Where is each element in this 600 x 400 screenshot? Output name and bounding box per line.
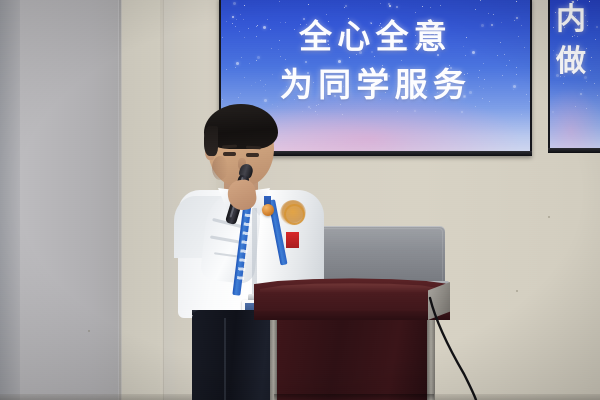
wall-speck bbox=[548, 216, 550, 218]
star bbox=[553, 50, 554, 51]
wooden-podium bbox=[254, 278, 450, 400]
star bbox=[389, 5, 391, 7]
podium-lip bbox=[254, 311, 450, 320]
star bbox=[422, 6, 423, 7]
secondary-screen-line-1: 内 bbox=[556, 0, 588, 38]
podium-front-panel bbox=[276, 320, 428, 400]
star bbox=[233, 2, 236, 5]
star bbox=[435, 111, 436, 112]
photo-scene: 全心全意 为同学服务 内 做 bbox=[0, 0, 600, 400]
star bbox=[589, 1, 590, 2]
star bbox=[397, 111, 398, 112]
secondary-projection-screen: 内 做 bbox=[548, 0, 600, 153]
star bbox=[342, 114, 343, 115]
red-flag-pin bbox=[286, 232, 299, 248]
wall-seam bbox=[119, 0, 121, 400]
star bbox=[590, 70, 591, 71]
star bbox=[480, 0, 481, 1]
sideburn bbox=[204, 126, 218, 156]
star bbox=[380, 3, 381, 4]
wall-panel-third bbox=[122, 0, 162, 400]
secondary-screen-line-2: 做 bbox=[556, 36, 588, 80]
star bbox=[461, 111, 463, 113]
star bbox=[308, 4, 309, 5]
star bbox=[596, 26, 598, 28]
star bbox=[580, 93, 582, 95]
star bbox=[430, 7, 431, 8]
wall-speck bbox=[516, 290, 518, 292]
eye-right bbox=[246, 153, 259, 157]
star bbox=[553, 27, 554, 28]
wall-panel-second bbox=[20, 0, 118, 400]
cable-path bbox=[430, 298, 476, 400]
wall-panel-left bbox=[0, 0, 20, 400]
power-cable bbox=[428, 296, 498, 400]
star bbox=[552, 111, 554, 113]
star bbox=[597, 95, 598, 96]
eye-left bbox=[223, 152, 236, 156]
screen-headline-line-1: 全心全意 bbox=[221, 10, 530, 58]
trouser-crease bbox=[224, 318, 226, 400]
star bbox=[586, 81, 587, 82]
star bbox=[279, 1, 280, 2]
star bbox=[594, 83, 595, 84]
star bbox=[440, 5, 441, 6]
star bbox=[575, 106, 576, 107]
screen-headline-line-2: 为同学服务 bbox=[221, 58, 530, 106]
star bbox=[345, 5, 347, 7]
star bbox=[595, 39, 596, 40]
screen-bezel bbox=[548, 148, 600, 153]
star bbox=[563, 83, 564, 84]
podium-trim-left bbox=[270, 320, 277, 400]
secondary-screen-surface: 内 做 bbox=[550, 0, 600, 148]
wall-speck bbox=[88, 330, 90, 332]
star bbox=[396, 6, 398, 8]
star bbox=[516, 1, 517, 2]
medal-pin bbox=[262, 204, 274, 216]
podium-floor-shadow bbox=[274, 394, 434, 400]
star bbox=[521, 114, 522, 115]
cheek-shadow bbox=[212, 156, 228, 180]
wall-seam-thin bbox=[163, 0, 164, 400]
star bbox=[586, 108, 587, 109]
shirt-emblem-ring bbox=[284, 204, 305, 225]
star bbox=[591, 57, 592, 58]
star bbox=[582, 89, 583, 90]
star bbox=[244, 5, 245, 6]
star bbox=[414, 110, 416, 112]
